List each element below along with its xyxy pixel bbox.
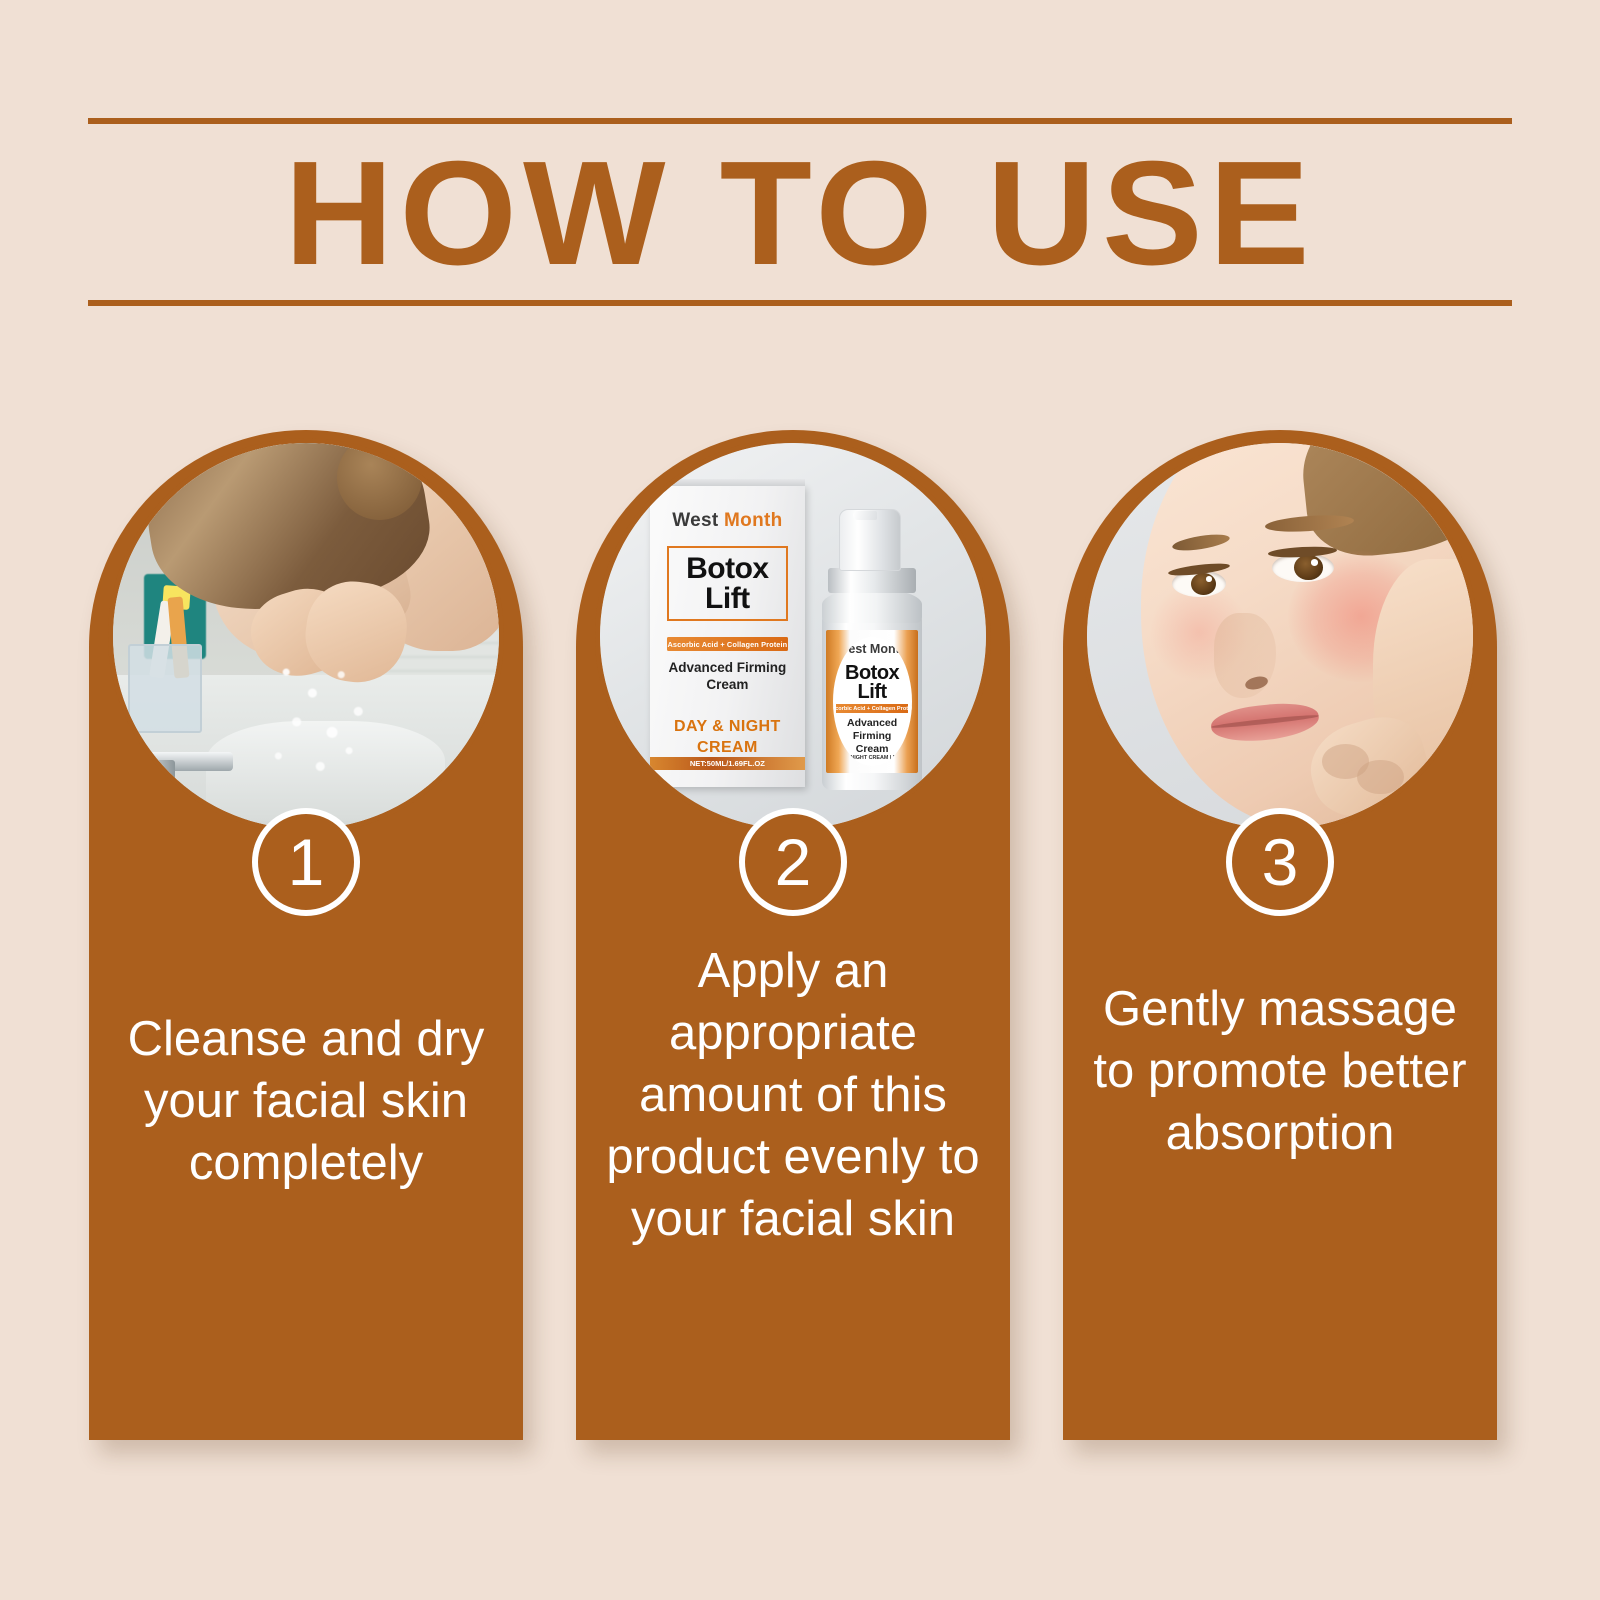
bottle-pump-nozzle bbox=[853, 511, 877, 520]
product-pump-bottle: West Month Botox Lift Ascorbic Acid + Co… bbox=[820, 509, 924, 791]
step-caption-2: Apply an appropriate amount of this prod… bbox=[598, 940, 988, 1250]
header: HOW TO USE bbox=[88, 118, 1512, 306]
carton-usage-line2: CREAM bbox=[650, 737, 804, 758]
bottle-brand-second: Month bbox=[870, 642, 907, 656]
carton-brand-second: Month bbox=[724, 510, 782, 531]
face-scene-illustration bbox=[1087, 443, 1473, 829]
product-carton-and-bottle-photo: West Month Botox Lift Ascorbic Acid + Co… bbox=[595, 438, 991, 834]
bottle-footer: DAY & NIGHT CREAM | NET:50ML/1.69FL.OZ bbox=[833, 755, 912, 761]
bottle-ingredient-badge: Ascorbic Acid + Collagen Protein bbox=[836, 704, 909, 713]
step-card-1[interactable]: 1 Cleanse and dry your facial skin compl… bbox=[89, 430, 523, 1440]
bottle-brand: West Month bbox=[833, 642, 912, 656]
carton-net-weight: NET:50ML/1.69FL.OZ bbox=[650, 757, 804, 770]
carton-ingredient-badge: Ascorbic Acid + Collagen Protein bbox=[667, 637, 787, 651]
bottle-subtitle: Advanced Firming Cream bbox=[833, 717, 912, 756]
wash-scene-illustration bbox=[113, 443, 499, 829]
bottle-cap bbox=[839, 509, 902, 571]
carton-brand-first: West bbox=[672, 510, 724, 531]
step-caption-1: Cleanse and dry your facial skin complet… bbox=[111, 1008, 501, 1194]
carton-brand: West Month bbox=[650, 510, 804, 532]
carton-usage: DAY & NIGHT CREAM bbox=[650, 716, 804, 758]
carton-name-box: Botox Lift bbox=[667, 546, 787, 621]
step-number-badge-1: 1 bbox=[252, 808, 360, 916]
header-bottom-rule bbox=[88, 300, 1512, 306]
woman-washing-face-photo bbox=[108, 438, 504, 834]
product-carton: West Month Botox Lift Ascorbic Acid + Co… bbox=[650, 485, 804, 786]
carton-subtitle-line2: Cream bbox=[650, 676, 804, 693]
step-caption-3: Gently massage to promote better absorpt… bbox=[1085, 978, 1475, 1164]
bottle-shoulder bbox=[822, 589, 922, 623]
page-title: HOW TO USE bbox=[74, 118, 1526, 306]
carton-subtitle: Advanced Firming Cream bbox=[650, 659, 804, 693]
bottle-label: West Month Botox Lift Ascorbic Acid + Co… bbox=[826, 630, 918, 774]
bottle-subtitle-line1: Advanced Firming bbox=[833, 717, 912, 743]
bottle-collar bbox=[828, 568, 916, 593]
product-scene-illustration: West Month Botox Lift Ascorbic Acid + Co… bbox=[600, 443, 986, 829]
carton-top-flap bbox=[650, 479, 804, 486]
step-number-badge-2: 2 bbox=[739, 808, 847, 916]
carton-name-line2: Lift bbox=[669, 582, 785, 616]
carton-subtitle-line1: Advanced Firming bbox=[650, 659, 804, 676]
bottle-name-line2: Lift bbox=[833, 681, 912, 704]
carton-usage-line1: DAY & NIGHT bbox=[650, 716, 804, 737]
bottle-brand-first: West bbox=[837, 642, 870, 656]
step-card-3[interactable]: 3 Gently massage to promote better absor… bbox=[1063, 430, 1497, 1440]
step-card-2[interactable]: West Month Botox Lift Ascorbic Acid + Co… bbox=[576, 430, 1010, 1440]
step-number-badge-3: 3 bbox=[1226, 808, 1334, 916]
woman-massaging-cheek-photo bbox=[1082, 438, 1478, 834]
steps-row: 1 Cleanse and dry your facial skin compl… bbox=[0, 430, 1600, 1490]
carton-name-line1: Botox bbox=[669, 552, 785, 586]
